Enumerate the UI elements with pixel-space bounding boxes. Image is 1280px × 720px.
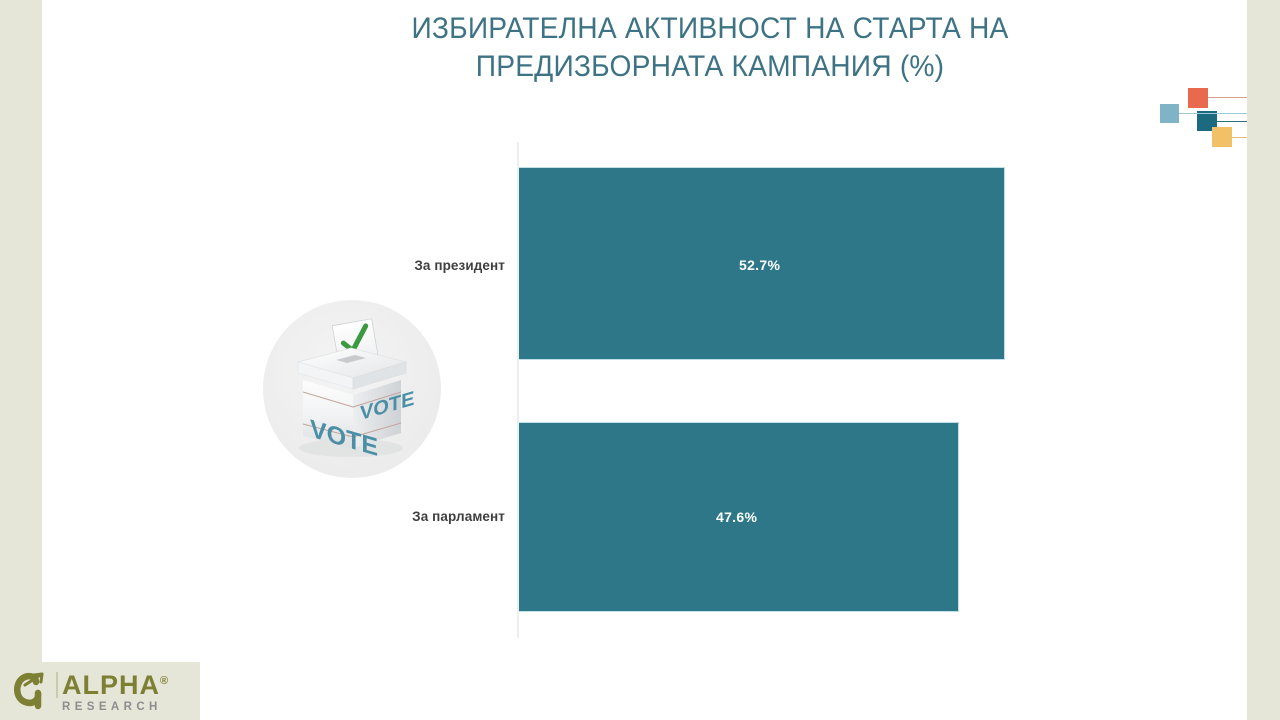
logo-registered-mark: ® (160, 675, 169, 687)
logo-divider (56, 672, 58, 698)
alpha-logo-mark-icon (12, 668, 56, 712)
logo-alpha-word: ALPHA (62, 670, 160, 700)
category-label-parliament: За парламент (345, 509, 505, 524)
ballot-box-illustration: VOTE VOTE (263, 300, 441, 478)
bar-value-president: 52.7% (739, 257, 780, 273)
logo-research-text: RESEARCH (62, 702, 197, 714)
ballot-box-svg: VOTE VOTE (263, 300, 441, 478)
bar-chart: 52.7% 47.6% За президент За парламент (0, 0, 1280, 720)
category-label-president: За президент (345, 258, 505, 273)
slide-canvas: ИЗБИРАТЕЛНА АКТИВНОСТ НА СТАРТА НА ПРЕДИ… (0, 0, 1280, 720)
bar-value-parliament: 47.6% (716, 509, 757, 525)
alpha-research-logo: ALPHA® RESEARCH (0, 662, 200, 720)
logo-alpha-text: ALPHA® (62, 672, 197, 699)
